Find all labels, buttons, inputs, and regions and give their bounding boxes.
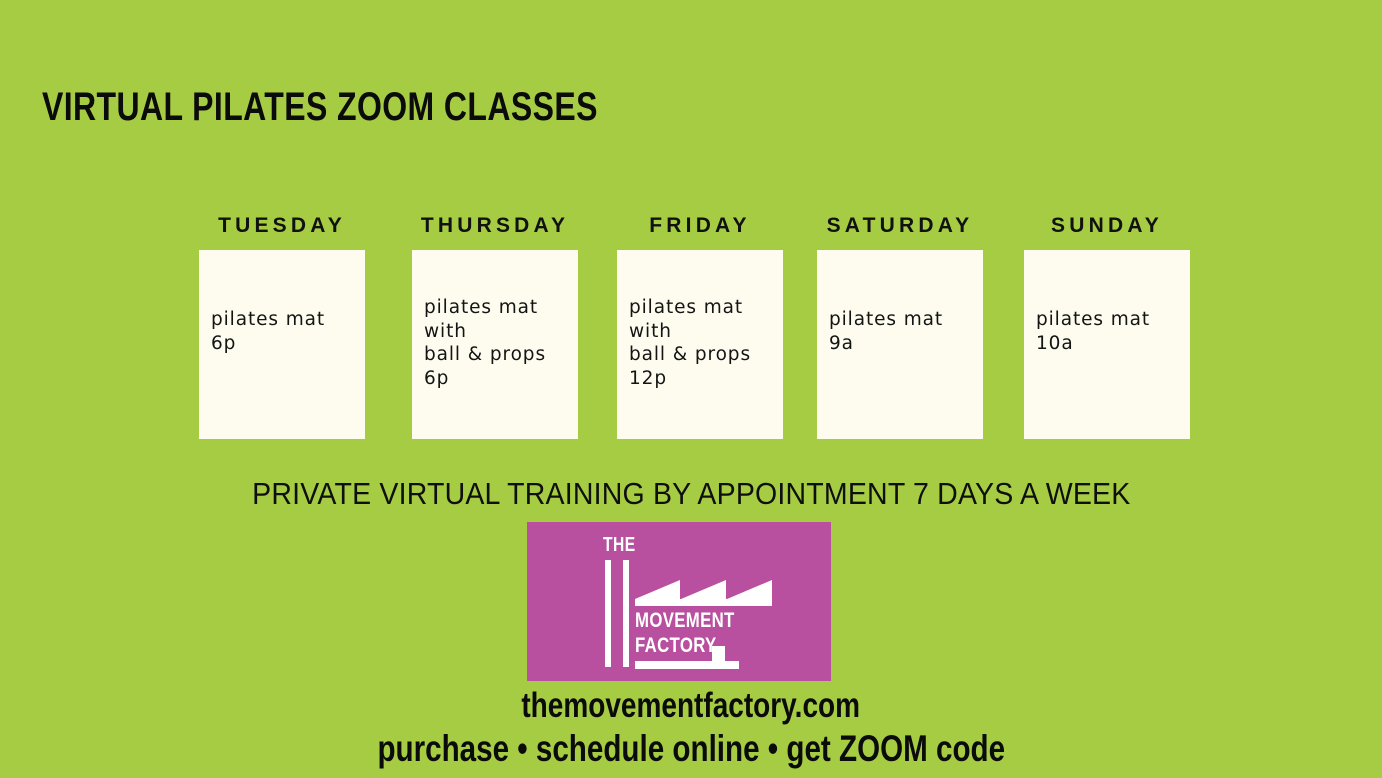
logo-factory-label: FACTORY [635,635,717,657]
class-card-friday[interactable]: pilates mat with ball & props 12p [617,250,783,439]
poster-canvas: VIRTUAL PILATES ZOOM CLASSES TUESDAY pil… [0,0,1382,778]
day-header-sunday: SUNDAY [1006,214,1208,238]
movement-factory-logo[interactable]: THE MOVEMENT FACTORY [527,522,831,681]
logo-the-label: THE [603,535,636,556]
private-training-note: PRIVATE VIRTUAL TRAINING BY APPOINTMENT … [0,476,1382,512]
page-title: VIRTUAL PILATES ZOOM CLASSES [42,85,598,129]
factory-base-step-icon [712,646,725,662]
schedule-column-sunday: SUNDAY pilates mat 10a [1024,214,1190,440]
call-to-action-text: purchase • schedule online • get ZOOM co… [377,729,1005,769]
class-card-text-friday: pilates mat with ball & props 12p [629,296,777,390]
class-card-tuesday[interactable]: pilates mat 6p [199,250,365,439]
class-schedule-grid: TUESDAY pilates mat 6p THURSDAY pilates … [199,214,1190,440]
class-card-text-saturday: pilates mat 9a [829,308,977,355]
class-card-text-sunday: pilates mat 10a [1036,308,1184,355]
class-card-text-thursday: pilates mat with ball & props 6p [424,296,572,390]
private-training-note-text: PRIVATE VIRTUAL TRAINING BY APPOINTMENT … [252,476,1130,512]
smokestack-right-icon [623,560,629,667]
schedule-column-tuesday: TUESDAY pilates mat 6p [199,214,365,440]
class-card-text-tuesday: pilates mat 6p [211,308,359,355]
class-card-sunday[interactable]: pilates mat 10a [1024,250,1190,439]
factory-base-bar-icon [635,661,739,669]
website-link[interactable]: themovementfactory.com [0,687,1382,725]
day-header-saturday: SATURDAY [799,214,1001,238]
class-card-thursday[interactable]: pilates mat with ball & props 6p [412,250,578,439]
schedule-column-saturday: SATURDAY pilates mat 9a [817,214,983,440]
factory-sawtooth-roof-icon [635,573,772,606]
day-header-thursday: THURSDAY [394,214,596,238]
logo-movement-label: MOVEMENT [635,610,735,632]
schedule-column-friday: FRIDAY pilates mat with ball & props 12p [617,214,783,440]
schedule-column-thursday: THURSDAY pilates mat with ball & props 6… [412,214,578,440]
day-header-friday: FRIDAY [599,214,801,238]
day-header-tuesday: TUESDAY [181,214,383,238]
call-to-action: purchase • schedule online • get ZOOM co… [0,729,1382,769]
class-card-saturday[interactable]: pilates mat 9a [817,250,983,439]
smokestack-left-icon [605,560,611,667]
website-link-text: themovementfactory.com [522,687,861,725]
